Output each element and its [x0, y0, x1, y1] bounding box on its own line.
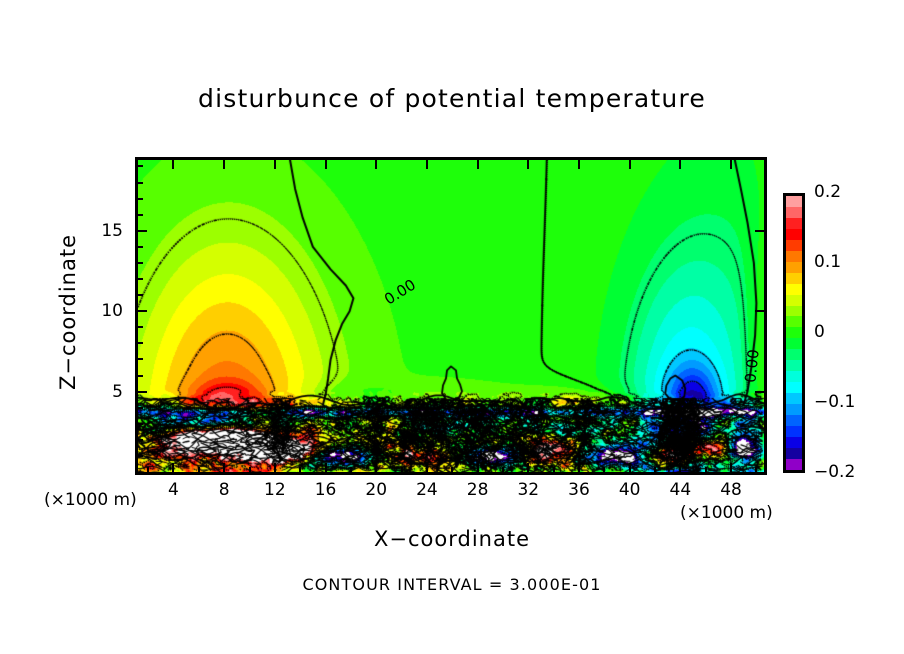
y-tick-mark [755, 391, 764, 393]
x-tick-mark-minor [451, 467, 453, 472]
contour-interval-caption: CONTOUR INTERVAL = 3.000E-01 [0, 575, 904, 594]
x-tick-mark [477, 160, 479, 169]
colorbar-swatch [786, 448, 802, 459]
x-tick-mark [274, 463, 276, 472]
x-axis-units-label: (×1000 m) [680, 503, 773, 523]
x-tick-mark-minor [603, 467, 605, 472]
x-tick-mark [679, 160, 681, 169]
colorbar-tick-label: −0.2 [814, 462, 855, 482]
contour-plot-area [135, 157, 767, 475]
figure-canvas: disturbunce of potential temperature X−c… [0, 0, 904, 654]
x-tick-mark [325, 160, 327, 169]
y-tick-mark [138, 310, 147, 312]
colorbar-swatch [786, 196, 802, 207]
y-tick-mark-minor [138, 165, 143, 167]
x-tick-mark [477, 463, 479, 472]
x-tick-mark-minor [553, 467, 555, 472]
y-tick-mark-minor [138, 439, 143, 441]
colorbar-swatch [786, 284, 802, 295]
colorbar-swatch [786, 349, 802, 360]
y-tick-mark [138, 230, 147, 232]
y-tick-mark-minor [138, 214, 143, 216]
y-tick-mark-minor [138, 262, 143, 264]
x-tick-mark-minor [654, 467, 656, 472]
colorbar-swatch [786, 218, 802, 229]
colorbar-swatch [786, 207, 802, 218]
colorbar-swatch [786, 426, 802, 437]
colorbar-swatch [786, 360, 802, 371]
y-tick-label: 15 [73, 221, 123, 241]
x-tick-mark [172, 160, 174, 169]
y-tick-mark-minor [138, 326, 143, 328]
x-tick-mark [578, 463, 580, 472]
colorbar-swatch [786, 437, 802, 448]
y-tick-mark-minor [138, 294, 143, 296]
x-tick-mark-minor [502, 467, 504, 472]
x-tick-mark [375, 463, 377, 472]
x-tick-mark-minor [249, 467, 251, 472]
y-tick-mark-minor [138, 278, 143, 280]
contour-field-canvas [138, 160, 764, 472]
colorbar-swatch [786, 371, 802, 382]
y-tick-mark-minor [138, 455, 143, 457]
colorbar-tick-label: 0.1 [814, 252, 841, 272]
y-tick-mark-minor [138, 423, 143, 425]
x-tick-mark [375, 160, 377, 169]
y-tick-mark [138, 391, 147, 393]
x-tick-mark [223, 160, 225, 169]
colorbar-swatch [786, 393, 802, 404]
colorbar-swatch [786, 251, 802, 262]
y-axis-units-label: (×1000 m) [44, 490, 137, 510]
colorbar-swatch [786, 382, 802, 393]
colorbar-swatch [786, 273, 802, 284]
x-tick-mark [325, 463, 327, 472]
x-tick-mark [172, 463, 174, 472]
x-tick-label: 48 [701, 480, 761, 500]
x-tick-mark [426, 463, 428, 472]
colorbar-swatch [786, 415, 802, 426]
colorbar-tick-label: 0 [814, 322, 825, 342]
y-tick-mark [755, 230, 764, 232]
x-tick-mark-minor [299, 467, 301, 472]
y-tick-mark-minor [138, 182, 143, 184]
y-tick-label: 5 [73, 382, 123, 402]
y-tick-mark-minor [138, 358, 143, 360]
y-tick-label: 10 [73, 301, 123, 321]
page-title: disturbunce of potential temperature [0, 84, 904, 113]
x-tick-mark [730, 160, 732, 169]
contour-level-label: 0.00 [741, 348, 762, 383]
colorbar[interactable] [783, 193, 805, 473]
x-tick-mark-minor [350, 467, 352, 472]
colorbar-swatch [786, 338, 802, 349]
x-tick-mark-minor [401, 467, 403, 472]
x-tick-mark [223, 463, 225, 472]
x-tick-mark-minor [755, 467, 757, 472]
y-tick-mark-minor [138, 246, 143, 248]
colorbar-swatch [786, 229, 802, 240]
x-tick-mark [629, 160, 631, 169]
x-tick-mark-minor [198, 467, 200, 472]
x-tick-mark-minor [147, 467, 149, 472]
x-tick-mark [426, 160, 428, 169]
x-tick-mark [679, 463, 681, 472]
y-tick-mark [755, 310, 764, 312]
y-tick-mark-minor [138, 375, 143, 377]
x-axis-title: X−coordinate [0, 527, 904, 551]
y-tick-mark-minor [138, 407, 143, 409]
y-tick-mark-minor [138, 342, 143, 344]
x-tick-mark [527, 160, 529, 169]
colorbar-swatch [786, 404, 802, 415]
x-tick-mark [730, 463, 732, 472]
colorbar-swatch [786, 240, 802, 251]
colorbar-swatch [786, 327, 802, 338]
colorbar-swatch [786, 459, 802, 470]
x-tick-mark [527, 463, 529, 472]
x-tick-mark [629, 463, 631, 472]
x-tick-mark-minor [705, 467, 707, 472]
x-tick-mark [578, 160, 580, 169]
colorbar-swatch [786, 262, 802, 273]
colorbar-swatch [786, 295, 802, 306]
y-tick-mark-minor [138, 198, 143, 200]
colorbar-tick-label: −0.1 [814, 392, 855, 412]
colorbar-swatch [786, 316, 802, 327]
x-tick-mark [274, 160, 276, 169]
colorbar-tick-label: 0.2 [814, 182, 841, 202]
colorbar-swatch [786, 306, 802, 317]
